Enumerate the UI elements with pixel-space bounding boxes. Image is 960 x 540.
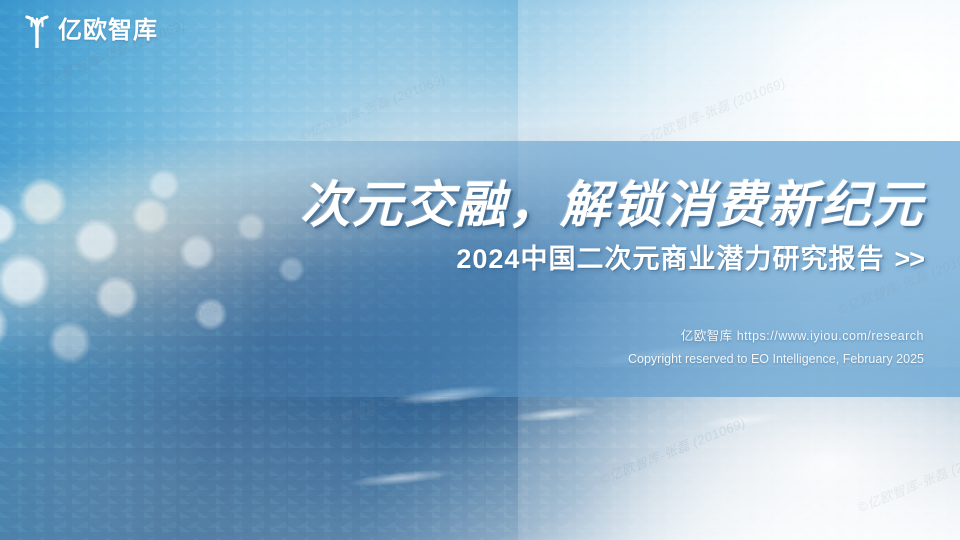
brand-logo-text: 亿欧智库: [58, 19, 158, 43]
sub-title: 2024中国二次元商业潜力研究报告: [456, 244, 884, 274]
main-title: 次元交融，解锁消费新纪元: [300, 178, 924, 232]
report-cover-slide: ©亿欧智库-张磊 (201069) ©亿欧智库-张磊 (201069) ©亿欧智…: [0, 0, 960, 540]
credit-block: 亿欧智库 https://www.iyiou.com/research Copy…: [628, 325, 924, 371]
chevron-right-icon[interactable]: >>: [894, 244, 924, 274]
brand-logo[interactable]: 亿欧智库: [22, 14, 158, 48]
eo-trident-logo-icon: [22, 14, 52, 48]
credit-website-line[interactable]: 亿欧智库 https://www.iyiou.com/research: [628, 325, 924, 348]
sub-title-row: 2024中国二次元商业潜力研究报告>>: [300, 244, 924, 275]
title-block: 次元交融，解锁消费新纪元 2024中国二次元商业潜力研究报告>>: [300, 178, 924, 275]
credit-copyright-line: Copyright reserved to EO Intelligence, F…: [628, 348, 924, 371]
